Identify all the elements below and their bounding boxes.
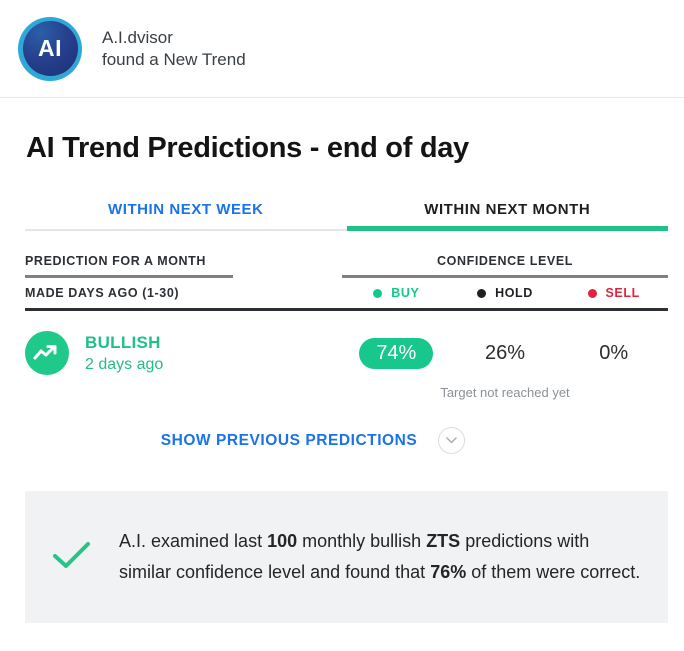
table-row: BULLISH 2 days ago 74% 26% 0% [25, 331, 668, 375]
confidence-legend: BUY HOLD SELL [342, 286, 668, 300]
column-header-confidence: CONFIDENCE LEVEL [342, 254, 668, 278]
prediction-cell: BULLISH 2 days ago [25, 331, 342, 375]
info-bold-percent: 76% [430, 562, 466, 582]
info-bold-ticker: ZTS [426, 531, 460, 551]
target-note: Target not reached yet [342, 385, 668, 400]
logo-text: AI [38, 37, 62, 60]
sell-dot-icon [588, 289, 597, 298]
buy-dot-icon [373, 289, 382, 298]
app-header: AI A.I.dvisor found a New Trend [0, 0, 684, 98]
target-note-row: Target not reached yet [25, 385, 668, 400]
info-text-part4: of them were correct. [466, 562, 640, 582]
info-text-part2: monthly bullish [297, 531, 426, 551]
tab-within-next-month[interactable]: WITHIN NEXT MONTH [347, 201, 669, 231]
legend-label-buy: BUY [391, 286, 419, 300]
logo-inner-circle: AI [23, 21, 78, 76]
confidence-hold-cell: 26% [451, 338, 560, 369]
info-text-part1: A.I. examined last [119, 531, 267, 551]
column-header-row: PREDICTION FOR A MONTH CONFIDENCE LEVEL [25, 254, 668, 278]
trend-up-arrow-icon [25, 331, 69, 375]
confidence-buy-cell: 74% [342, 338, 451, 369]
info-bold-count: 100 [267, 531, 297, 551]
legend-item-sell: SELL [559, 286, 668, 300]
tab-within-next-week[interactable]: WITHIN NEXT WEEK [25, 201, 347, 231]
check-mark-icon [51, 539, 103, 576]
prediction-direction: BULLISH [85, 333, 163, 353]
show-previous-predictions-row[interactable]: SHOW PREVIOUS PREDICTIONS [0, 427, 684, 454]
page-title: AI Trend Predictions - end of day [0, 98, 684, 165]
brand-text: A.I.dvisor found a New Trend [102, 27, 246, 71]
legend-label-hold: HOLD [495, 286, 533, 300]
sub-header-row: MADE DAYS AGO (1-30) BUY HOLD SELL [25, 278, 668, 311]
info-panel-text: A.I. examined last 100 monthly bullish Z… [119, 526, 644, 588]
column-header-prediction: PREDICTION FOR A MONTH [25, 254, 233, 278]
legend-item-buy: BUY [342, 286, 451, 300]
show-previous-predictions-link[interactable]: SHOW PREVIOUS PREDICTIONS [161, 432, 418, 450]
tab-bar: WITHIN NEXT WEEK WITHIN NEXT MONTH [25, 201, 668, 231]
sub-header-made-days-ago: MADE DAYS AGO (1-30) [25, 286, 342, 300]
confidence-values: 74% 26% 0% [342, 338, 668, 369]
note-spacer [25, 385, 342, 400]
brand-line-1: A.I.dvisor [102, 27, 246, 49]
chevron-down-icon[interactable] [438, 427, 465, 454]
legend-item-hold: HOLD [451, 286, 560, 300]
ai-circle-logo-icon: AI [18, 17, 82, 81]
confidence-buy-value: 74% [359, 338, 433, 369]
prediction-labels: BULLISH 2 days ago [85, 333, 163, 374]
hold-dot-icon [477, 289, 486, 298]
confidence-sell-cell: 0% [559, 338, 668, 369]
prediction-age: 2 days ago [85, 356, 163, 374]
brand-line-2: found a New Trend [102, 49, 246, 71]
info-panel: A.I. examined last 100 monthly bullish Z… [25, 491, 668, 623]
legend-label-sell: SELL [606, 286, 640, 300]
